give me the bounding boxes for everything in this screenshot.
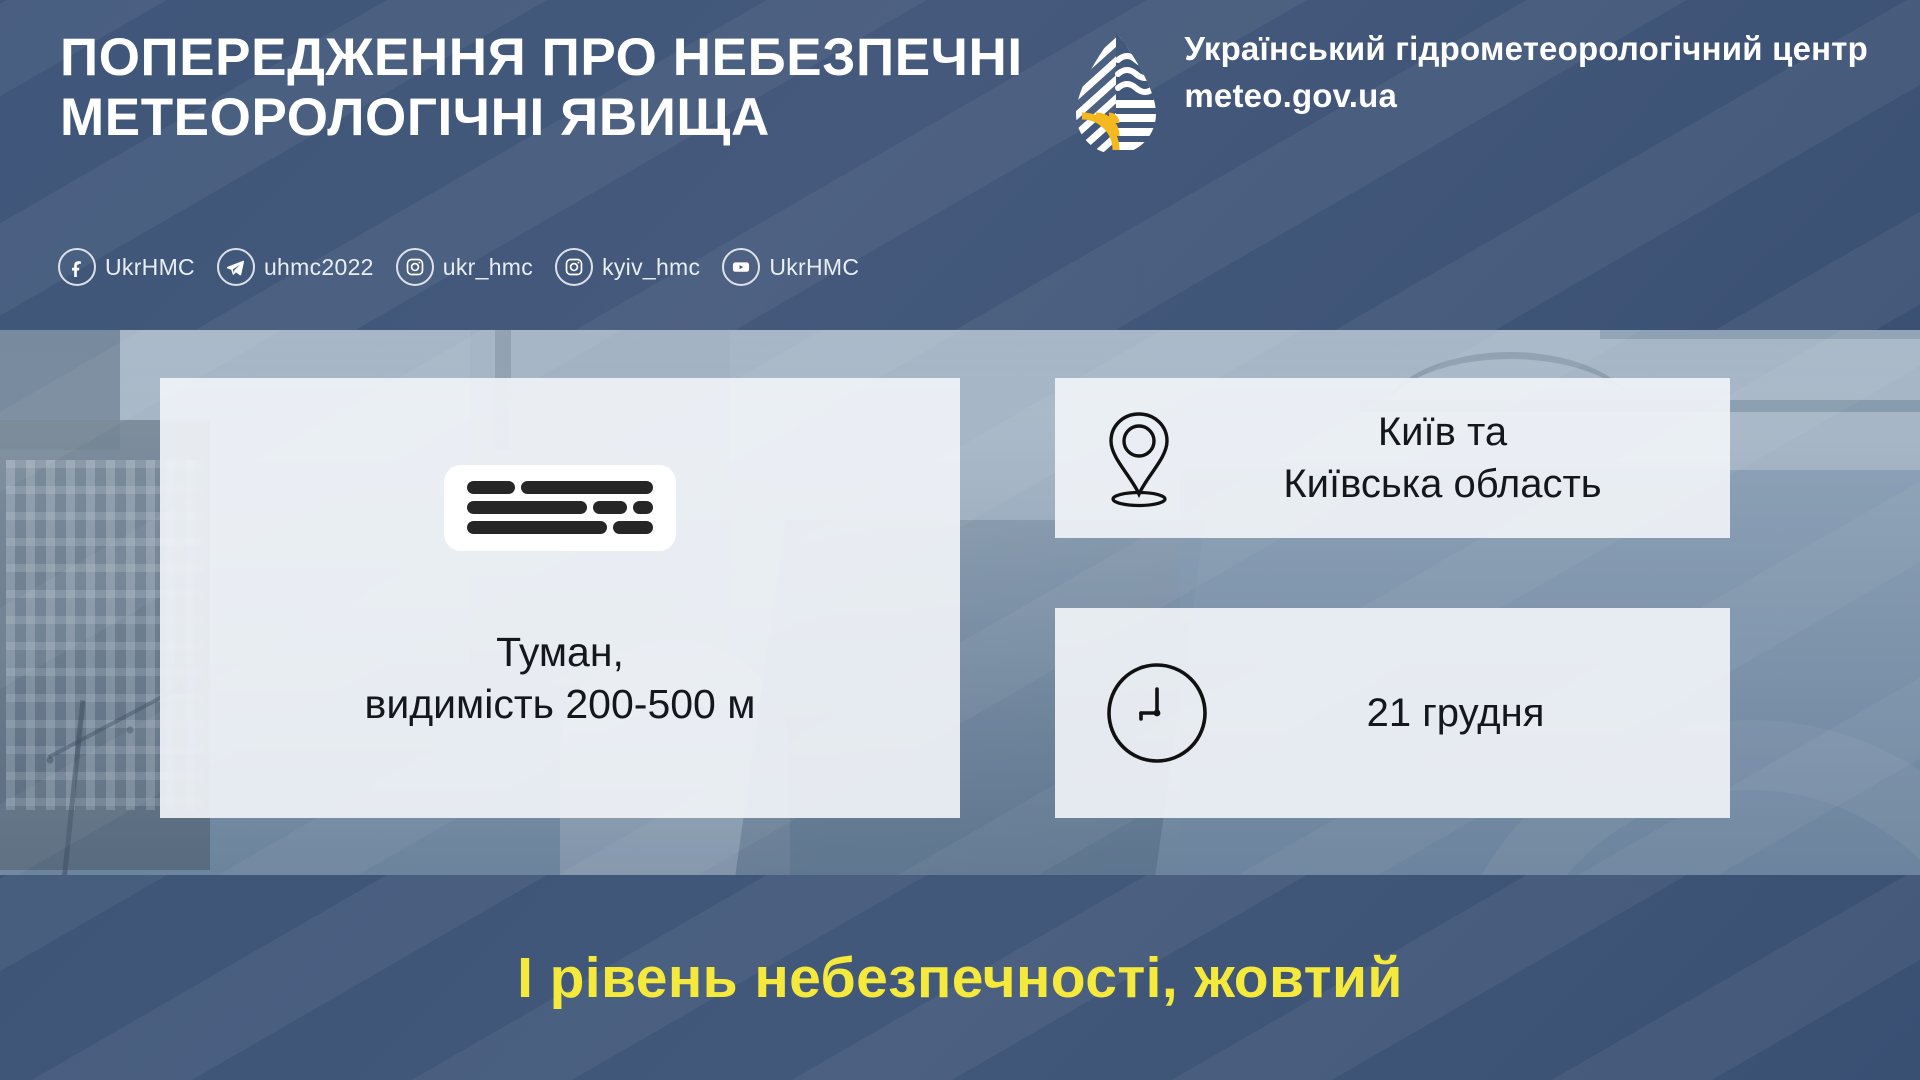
social-links: UkrHMC uhmc2022 ukr_hm bbox=[58, 248, 881, 286]
location-text: Київ та Київська область bbox=[1175, 406, 1730, 510]
location-line-2: Київська область bbox=[1175, 458, 1710, 510]
hazard-caption-line-1: Туман, bbox=[365, 627, 756, 679]
instagram-icon bbox=[396, 248, 434, 286]
social-label-instagram-kyiv: kyiv_hmc bbox=[602, 254, 700, 281]
social-label-telegram: uhmc2022 bbox=[264, 254, 374, 281]
organization-logo: Український гідрометеорологічний центр m… bbox=[1070, 30, 1868, 158]
logo-line-2: гідрометеорологічний bbox=[1395, 30, 1763, 67]
social-link-facebook[interactable]: UkrHMC bbox=[58, 248, 195, 286]
danger-level-text: І рівень небезпечності, жовтий bbox=[517, 945, 1403, 1011]
hazard-caption: Туман, видимість 200-500 м bbox=[365, 627, 756, 730]
youtube-icon bbox=[722, 248, 760, 286]
fog-icon bbox=[444, 465, 676, 551]
date-card: 21 грудня bbox=[1055, 608, 1730, 818]
social-link-telegram[interactable]: uhmc2022 bbox=[217, 248, 374, 286]
logo-line-1: Український bbox=[1184, 30, 1385, 67]
weather-warning-poster: ПОПЕРЕДЖЕННЯ ПРО НЕБЕЗПЕЧНІ МЕТЕОРОЛОГІЧ… bbox=[0, 0, 1920, 1080]
water-drop-logo-icon bbox=[1070, 30, 1162, 158]
telegram-icon bbox=[217, 248, 255, 286]
social-link-instagram-ukr[interactable]: ukr_hmc bbox=[396, 248, 533, 286]
location-line-1: Київ та bbox=[1175, 406, 1710, 458]
hazard-caption-line-2: видимість 200-500 м bbox=[365, 679, 756, 731]
social-label-youtube: UkrHMC bbox=[769, 254, 859, 281]
clock-icon bbox=[1103, 659, 1211, 767]
facebook-icon bbox=[58, 248, 96, 286]
social-label-instagram-ukr: ukr_hmc bbox=[443, 254, 533, 281]
map-pin-icon bbox=[1103, 408, 1175, 508]
instagram-icon bbox=[555, 248, 593, 286]
logo-line-3: центр bbox=[1772, 30, 1868, 67]
social-link-instagram-kyiv[interactable]: kyiv_hmc bbox=[555, 248, 700, 286]
location-card: Київ та Київська область bbox=[1055, 378, 1730, 538]
social-label-facebook: UkrHMC bbox=[105, 254, 195, 281]
logo-website[interactable]: meteo.gov.ua bbox=[1184, 77, 1868, 115]
date-value: 21 грудня bbox=[1211, 691, 1730, 736]
social-link-youtube[interactable]: UkrHMC bbox=[722, 248, 859, 286]
logo-text: Український гідрометеорологічний центр m… bbox=[1184, 30, 1868, 116]
header-bar: ПОПЕРЕДЖЕННЯ ПРО НЕБЕЗПЕЧНІ МЕТЕОРОЛОГІЧ… bbox=[0, 0, 1920, 330]
footer-bar: І рівень небезпечності, жовтий bbox=[0, 875, 1920, 1080]
hazard-card: Туман, видимість 200-500 м bbox=[160, 378, 960, 818]
